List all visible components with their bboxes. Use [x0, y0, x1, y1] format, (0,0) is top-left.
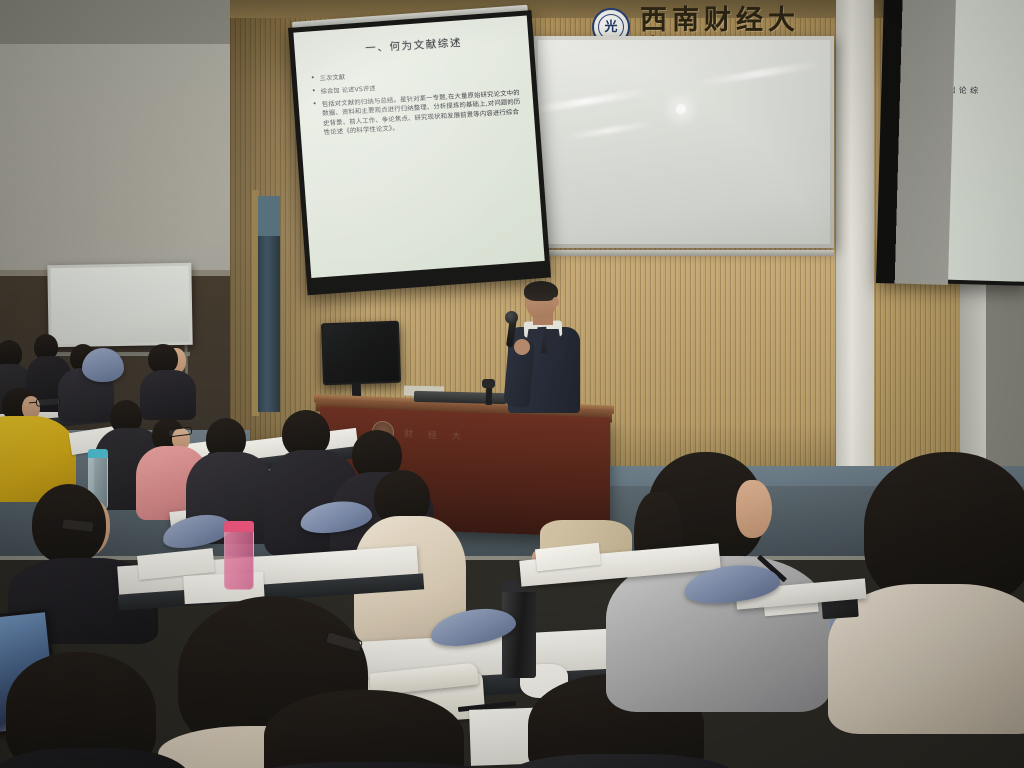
eyeglasses-icon: [36, 397, 60, 407]
lecture-hall-photo: 光 西南财经大学 SOUTHWESTERN UNIVERSITY OF FINA…: [0, 0, 1024, 768]
student: [0, 652, 180, 768]
bottle-cap: [88, 449, 108, 458]
bottle-cap: [224, 521, 254, 532]
student: [852, 452, 1024, 722]
audience-area: [0, 0, 1024, 768]
student-head: [264, 690, 464, 768]
student-face: [736, 480, 772, 538]
pink-water-bottle: [224, 528, 254, 590]
chair-back: [82, 348, 124, 382]
student: [244, 690, 494, 768]
